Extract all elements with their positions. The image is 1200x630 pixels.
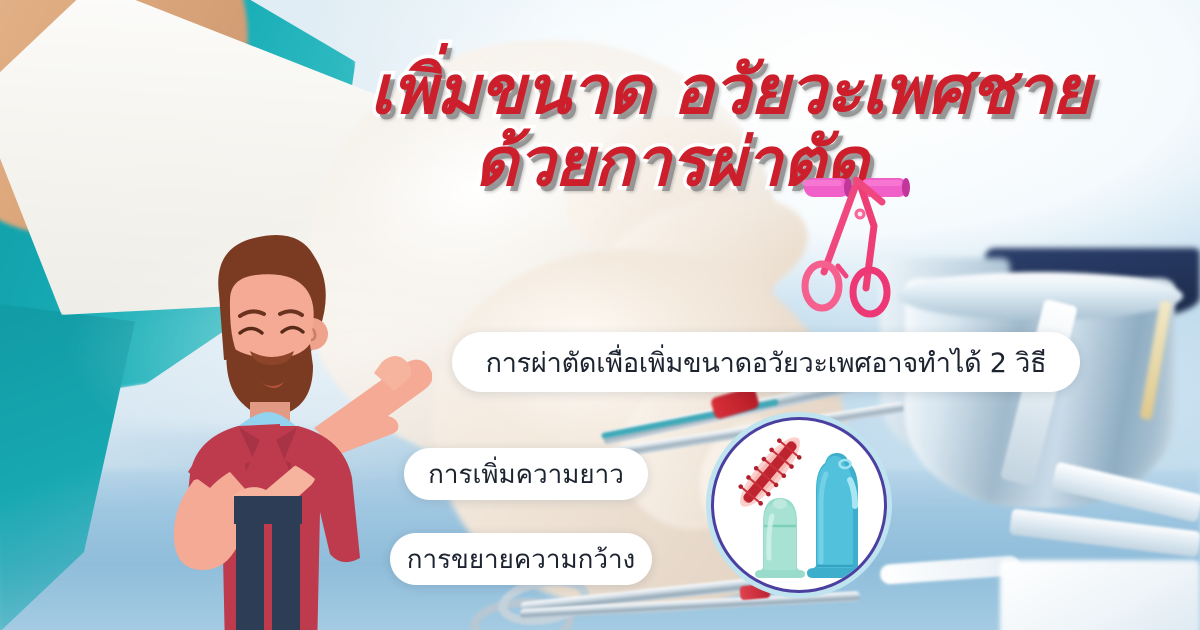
illustration-circle (706, 412, 892, 598)
condom-small-icon (755, 498, 805, 578)
circle-inner-white (711, 417, 887, 593)
bearded-man-pointing-icon (132, 196, 432, 630)
subtitle-pill: การผ่าตัดเพื่อเพิ่มขนาดอวัยวะเพศอาจทำได้… (452, 332, 1080, 392)
condom-large-icon (807, 453, 867, 578)
bullet-pill-girth: การขยายความกว้าง (390, 533, 652, 585)
surgical-forceps-icon (800, 168, 912, 318)
bullet-pill-length: การเพิ่มความยาว (404, 448, 648, 500)
banner-root: เพิ่มขนาด อวัยวะเพศชาย ด้วยการผ่าตัด (0, 0, 1200, 630)
